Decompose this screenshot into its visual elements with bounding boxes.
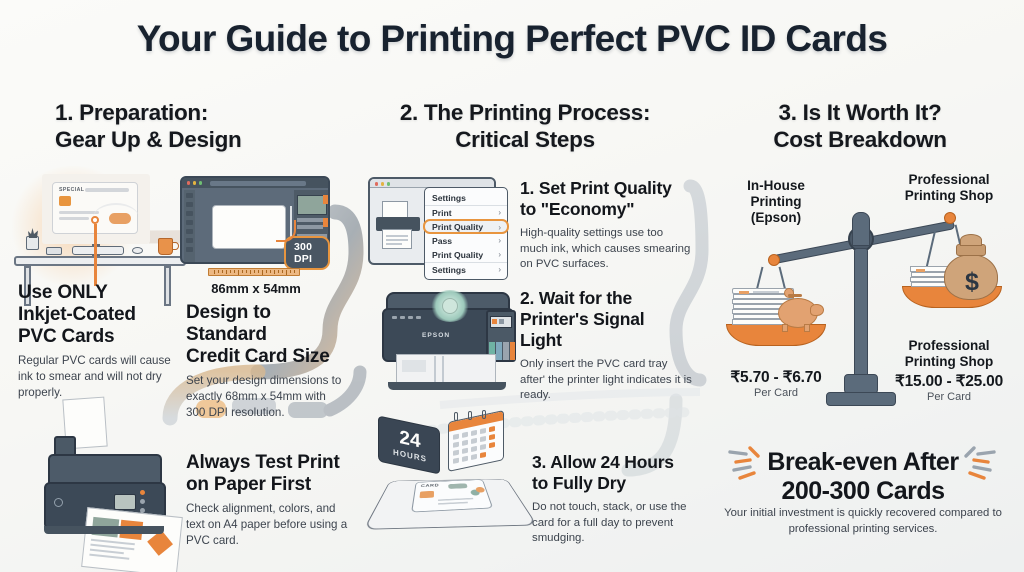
- step-body: High-quality settings use too much ink, …: [520, 226, 692, 273]
- menu-item-label: Settings: [432, 265, 466, 275]
- dpi-badge: 300 DPI: [284, 236, 330, 270]
- menu-item-label: Print: [432, 208, 452, 218]
- menu-item-label: Pass: [432, 236, 452, 246]
- chevron-right-icon: ›: [498, 206, 501, 220]
- block-body: Check alignment, colors, and text on A4 …: [186, 501, 352, 549]
- mug-icon: [158, 238, 173, 255]
- block-body: Regular PVC cards will cause ink to smea…: [18, 353, 183, 401]
- column-heading-preparation: 1. Preparation: Gear Up & Design: [55, 100, 355, 153]
- chevron-right-icon: ›: [498, 222, 501, 234]
- step-title: 1. Set Print Quality: [520, 178, 692, 199]
- professional-unit: Per Card: [880, 391, 1018, 403]
- breakeven-title-line-1: Break-even After: [718, 448, 1008, 477]
- menu-item-label: Settings: [432, 193, 466, 203]
- block-title-line-2: Inkjet-Coated: [18, 304, 183, 326]
- step-3-allow-24-hours: 3. Allow 24 Hours to Fully Dry Do not to…: [532, 452, 697, 547]
- menu-item-print-quality-highlighted[interactable]: Print Quality ›: [423, 219, 509, 234]
- in-house-unit: Per Card: [712, 387, 840, 399]
- infographic-canvas: Your Guide to Printing Perfect PVC ID Ca…: [0, 0, 1024, 572]
- block-use-only-inkjet-coated: Use ONLY Inkjet-Coated PVC Cards Regular…: [18, 282, 183, 401]
- right-pan-caption: Professional Printing Shop: [880, 338, 1018, 370]
- step-body: Do not touch, stack, or use the card for…: [532, 500, 697, 547]
- step-body: Only insert the PVC card tray after' the…: [520, 357, 692, 404]
- right-pan-label: Professional Printing Shop: [882, 172, 1016, 204]
- menu-item-print[interactable]: Print ›: [425, 205, 507, 219]
- step-title-line-1: Allow 24 Hours: [550, 452, 674, 472]
- block-title-line-1: Always Test Print: [186, 452, 352, 474]
- label-line-2: Printing: [712, 194, 840, 210]
- illustration-24-hours-drying: 24 HOURS CARD: [372, 414, 532, 554]
- column-heading-worth-it: 3. Is It Worth It? Cost Breakdown: [710, 100, 1010, 153]
- breakeven-body: Your initial investment is quickly recov…: [722, 506, 1004, 537]
- page-title: Your Guide to Printing Perfect PVC ID Ca…: [0, 18, 1024, 60]
- menu-item-settings-bottom[interactable]: Settings ›: [425, 262, 507, 276]
- left-pan-knob: [768, 254, 780, 266]
- heading-line-1: 3. Is It Worth It?: [710, 100, 1010, 127]
- money-bag-icon: $: [944, 254, 998, 300]
- menu-item-pass[interactable]: Pass ›: [425, 234, 507, 248]
- block-title-line-3: PVC Cards: [18, 326, 183, 348]
- column-heading-printing-process: 2. The Printing Process: Critical Steps: [360, 100, 690, 153]
- menu-item-label: Print Quality: [432, 250, 483, 260]
- illustration-design-app: 300 DPI: [180, 176, 330, 266]
- step-2-wait-signal-light: 2. Wait for the Printer's Signal Light O…: [520, 288, 692, 404]
- step-title-line-2: Printer's Signal: [520, 309, 692, 330]
- left-pan: [726, 324, 826, 346]
- card-label: CARD: [421, 484, 440, 488]
- professional-price: ₹15.00 - ₹25.00: [880, 372, 1018, 391]
- menu-item-settings-top[interactable]: Settings: [425, 191, 507, 205]
- chevron-right-icon: ›: [498, 234, 501, 248]
- illustration-epson-printer: EPSON: [378, 288, 538, 398]
- block-title-line-2: Credit Card Size: [186, 346, 346, 368]
- block-title-line-1: Use ONLY: [18, 282, 183, 304]
- printed-sheet: [81, 507, 183, 572]
- step-title-line-3: Light: [520, 330, 692, 351]
- 24-hours-sign: 24 HOURS: [378, 415, 440, 474]
- block-design-standard-size: Design to Standard Credit Card Size Set …: [186, 302, 346, 421]
- step-number: 2.: [520, 288, 534, 308]
- pen-cup-icon: [26, 236, 39, 250]
- printer-brand-label: EPSON: [422, 332, 450, 339]
- step-number: 3.: [532, 452, 546, 472]
- label-line-1: Professional: [882, 172, 1016, 188]
- illustration-desk-monitor: SPECIAL: [14, 170, 186, 280]
- heading-line-2: Gear Up & Design: [55, 127, 355, 154]
- breakeven-title-line-2: 200-300 Cards: [718, 477, 1008, 506]
- breakeven-title: Break-even After 200-300 Cards: [718, 448, 1008, 506]
- heading-line-2: Cost Breakdown: [710, 127, 1010, 154]
- block-always-test-print: Always Test Print on Paper First Check a…: [186, 452, 352, 549]
- illustration-print-dialog: Settings Print › Print Quality › Pass › …: [368, 177, 508, 269]
- step-1-set-print-quality: 1. Set Print Quality to "Economy" High-q…: [520, 178, 692, 273]
- menu-item-print-quality[interactable]: Print Quality ›: [425, 248, 507, 262]
- print-settings-menu[interactable]: Settings Print › Print Quality › Pass › …: [424, 187, 508, 280]
- heading-line-1: 1. Preparation:: [55, 100, 355, 127]
- step-title-line-2: to "Economy": [520, 199, 692, 220]
- step-title-line-1: Wait for the: [539, 288, 632, 308]
- illustration-inkjet-printer: [28, 398, 188, 558]
- in-house-price: ₹5.70 - ₹6.70: [712, 368, 840, 387]
- block-title-line-2: on Paper First: [186, 474, 352, 496]
- step-title: 2. Wait for the: [520, 288, 692, 309]
- heading-line-1: 2. The Printing Process:: [360, 100, 690, 127]
- right-pan-knob: [944, 212, 956, 224]
- menu-item-label: Print Quality: [432, 222, 483, 232]
- left-pan-label: In-House Printing (Epson): [712, 178, 840, 226]
- step-title: 3. Allow 24 Hours: [532, 452, 697, 473]
- chevron-right-icon: ›: [498, 263, 501, 277]
- label-line-1: In-House: [712, 178, 840, 194]
- block-body: Set your design dimensions to exactly 68…: [186, 373, 346, 421]
- chevron-right-icon: ›: [498, 248, 501, 262]
- ruler-icon: [208, 268, 300, 276]
- monitor-card-label: SPECIAL: [59, 187, 84, 193]
- keyboard-icon: [72, 246, 124, 255]
- step-number: 1.: [520, 178, 534, 198]
- step-title-line-2: to Fully Dry: [532, 473, 697, 494]
- caption-line-1: Professional: [880, 338, 1018, 354]
- heading-line-2: Critical Steps: [360, 127, 690, 154]
- caption-line-2: Printing Shop: [880, 354, 1018, 370]
- block-title-line-1: Design to Standard: [186, 302, 346, 346]
- mouse-icon: [132, 247, 143, 254]
- label-line-3: (Epson): [712, 210, 840, 226]
- phone-icon: [46, 247, 62, 255]
- step-title-line-1: Set Print Quality: [539, 178, 672, 198]
- label-line-2: Printing Shop: [882, 188, 1016, 204]
- drying-card: CARD: [411, 479, 493, 512]
- card-dimension-label: 86mm x 54mm: [186, 281, 326, 296]
